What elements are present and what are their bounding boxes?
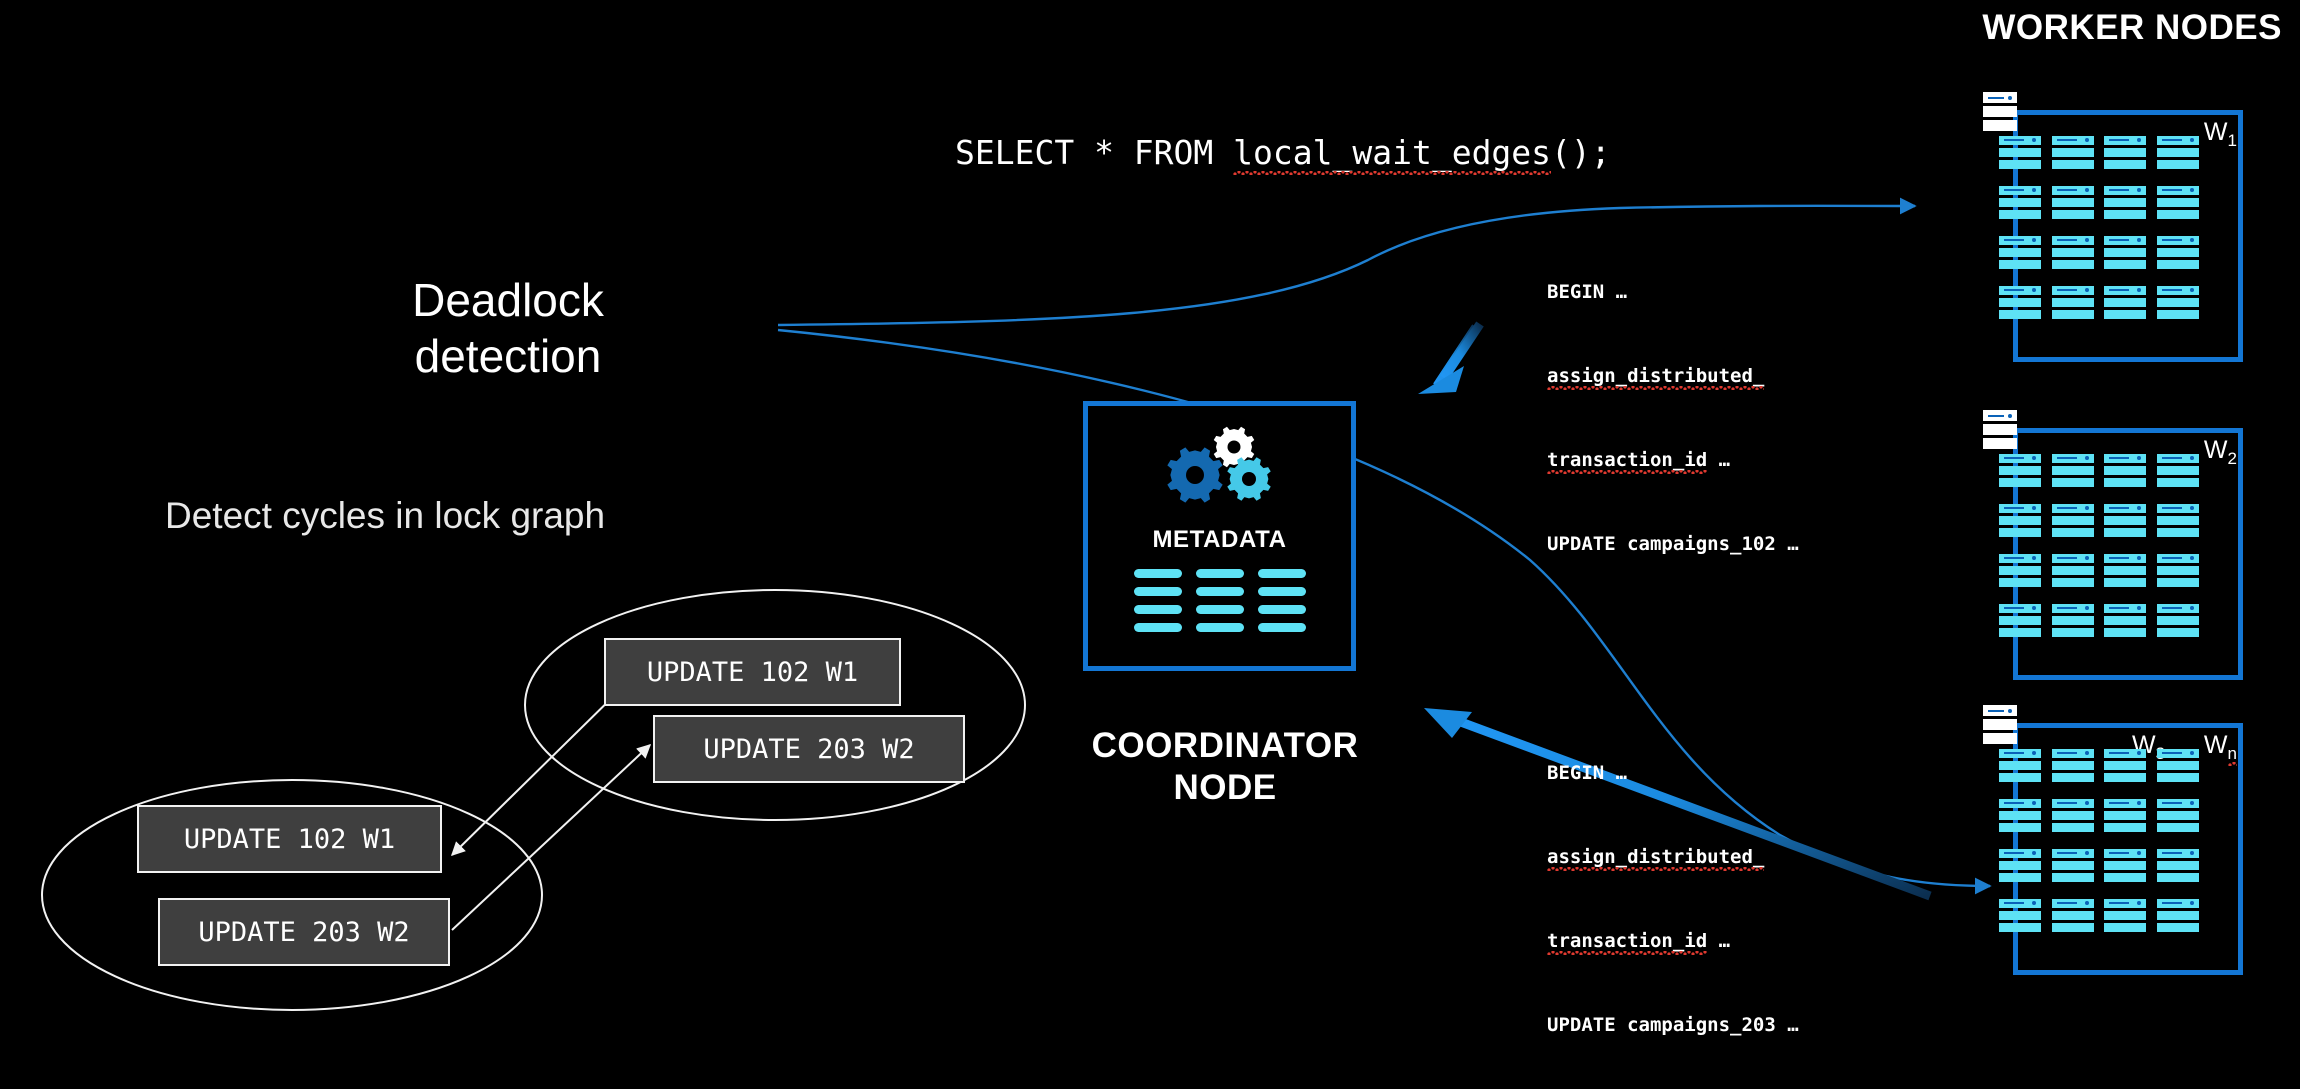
code-line-text: BEGIN …	[1547, 281, 1627, 303]
shard-icon	[2052, 454, 2094, 490]
worker-label-text: W	[2204, 118, 2228, 146]
shard-icon	[2104, 749, 2146, 785]
shard-icon	[2157, 236, 2199, 272]
lock-graph-box[interactable]: UPDATE 102 W1	[604, 638, 901, 706]
metadata-label: METADATA	[1083, 526, 1356, 554]
shard-icon	[2104, 899, 2146, 935]
shard-icon	[2052, 236, 2094, 272]
shard-icon	[2157, 554, 2199, 590]
shard-icon	[2052, 504, 2094, 540]
shard-icon	[2104, 799, 2146, 835]
shard-icon	[2157, 749, 2199, 785]
shard-icon	[2104, 604, 2146, 640]
shard-icon	[2052, 554, 2094, 590]
shard-icon	[2157, 849, 2199, 885]
metadata-row-bar	[1258, 605, 1306, 614]
worker-node-w2[interactable]: W2	[1983, 410, 2251, 690]
lock-graph-box[interactable]: UPDATE 102 W1	[137, 805, 442, 873]
code-line: transaction_id …	[1547, 921, 1799, 961]
sql-query-prefix: SELECT * FROM	[955, 133, 1233, 172]
transaction-block-102: BEGIN … assign_distributed_ transaction_…	[1547, 228, 1799, 608]
code-line-text: UPDATE campaigns_102 …	[1547, 533, 1799, 555]
shard-icon	[2157, 186, 2199, 222]
lock-graph-edge-2	[452, 745, 650, 930]
worker-node-w1[interactable]: W1	[1983, 92, 2251, 372]
sql-query-text: SELECT * FROM local_wait_edges();	[955, 133, 1611, 172]
shard-icon	[2157, 286, 2199, 322]
shard-icon	[1999, 504, 2041, 540]
shard-icon	[1999, 604, 2041, 640]
worker-node-label: W2	[2204, 436, 2237, 469]
server-rack-icon	[1983, 705, 2017, 747]
metadata-row-bar	[1258, 569, 1306, 578]
coordinator-node-heading: COORDINATOR NODE	[1060, 725, 1390, 809]
metadata-row-bar	[1134, 569, 1182, 578]
worker-nodes-heading: WORKER NODES	[1982, 8, 2282, 48]
shard-icon	[1999, 899, 2041, 935]
shard-icon	[1999, 454, 2041, 490]
lock-graph-caption: Detect cycles in lock graph	[165, 495, 605, 537]
code-line-text: transaction_id	[1547, 449, 1707, 471]
metadata-row-bar	[1196, 623, 1244, 632]
metadata-row-bar	[1134, 605, 1182, 614]
code-line-text: assign_distributed_	[1547, 846, 1764, 868]
shard-icon	[2157, 454, 2199, 490]
worker-node-label: W1	[2204, 118, 2237, 151]
shard-icon	[1999, 849, 2041, 885]
metadata-row-bar	[1258, 623, 1306, 632]
shard-icon	[1999, 236, 2041, 272]
code-line-suffix: …	[1707, 930, 1730, 952]
sql-query-suffix: ();	[1551, 133, 1611, 172]
shard-icon	[2052, 604, 2094, 640]
code-line-text: assign_distributed_	[1547, 365, 1764, 387]
worker-node-w3[interactable]: W3 … Wn	[1983, 705, 2251, 985]
shard-icon	[2157, 604, 2199, 640]
shard-icon	[2052, 749, 2094, 785]
shard-icon	[2104, 286, 2146, 322]
shard-icon	[2104, 849, 2146, 885]
shard-icon	[2157, 899, 2199, 935]
arrow-worker1-to-coordinator	[1418, 324, 1480, 394]
metadata-row-bar	[1196, 587, 1244, 596]
shard-icon	[1999, 136, 2041, 172]
worker-label-subscript-tail: n	[2228, 744, 2237, 763]
deadlock-detection-ellipse[interactable]: Deadlock detection	[238, 238, 778, 418]
shard-icon	[1999, 554, 2041, 590]
lock-graph-box[interactable]: UPDATE 203 W2	[158, 898, 450, 966]
shard-icon	[2104, 454, 2146, 490]
metadata-row-bar	[1134, 623, 1182, 632]
transaction-block-203: BEGIN … assign_distributed_ transaction_…	[1547, 709, 1799, 1089]
metadata-row-bar	[1196, 569, 1244, 578]
code-line: BEGIN …	[1547, 272, 1799, 312]
lock-graph-edge-1	[452, 680, 630, 855]
worker-label-subscript: 1	[2228, 131, 2237, 150]
shard-grid	[1999, 749, 2199, 935]
code-line: UPDATE campaigns_203 …	[1547, 1005, 1799, 1045]
shard-icon	[2104, 504, 2146, 540]
deadlock-detection-label: Deadlock detection	[412, 272, 604, 384]
shard-icon	[2052, 899, 2094, 935]
shard-icon	[2157, 136, 2199, 172]
shard-grid	[1999, 454, 2199, 640]
sql-query-function: local_wait_edges	[1233, 133, 1551, 172]
metadata-row-bar	[1134, 587, 1182, 596]
metadata-row-bar	[1196, 605, 1244, 614]
metadata-column	[1196, 569, 1244, 632]
server-rack-icon	[1983, 410, 2017, 452]
code-line-suffix: …	[1707, 449, 1730, 471]
shard-icon	[2052, 799, 2094, 835]
code-line: transaction_id …	[1547, 440, 1799, 480]
shard-icon	[1999, 286, 2041, 322]
metadata-column	[1134, 569, 1182, 632]
shard-icon	[2104, 236, 2146, 272]
code-line-text: transaction_id	[1547, 930, 1707, 952]
shard-icon	[2104, 554, 2146, 590]
gears-icon	[1145, 423, 1295, 528]
lock-graph-box[interactable]: UPDATE 203 W2	[653, 715, 965, 783]
code-line: UPDATE campaigns_102 …	[1547, 524, 1799, 564]
worker-label-subscript: 2	[2228, 449, 2237, 468]
code-line: assign_distributed_	[1547, 356, 1799, 396]
metadata-column	[1258, 569, 1306, 632]
server-rack-icon	[1983, 92, 2017, 134]
shard-icon	[2052, 286, 2094, 322]
shard-icon	[2052, 849, 2094, 885]
shard-icon	[2104, 136, 2146, 172]
code-line-text: UPDATE campaigns_203 …	[1547, 1014, 1799, 1036]
code-line: assign_distributed_	[1547, 837, 1799, 877]
worker-label-text: W	[2204, 436, 2228, 464]
shard-icon	[2052, 186, 2094, 222]
shard-icon	[2104, 186, 2146, 222]
shard-icon	[1999, 799, 2041, 835]
coordinator-node[interactable]: METADATA	[1083, 401, 1356, 671]
diagram-canvas: WORKER NODES COORDINATOR NODE Deadlock d…	[0, 0, 2300, 1072]
gear-dark-blue	[1167, 447, 1222, 502]
shard-grid	[1999, 136, 2199, 322]
metadata-row-bar	[1258, 587, 1306, 596]
shard-icon	[1999, 186, 2041, 222]
metadata-rows	[1134, 569, 1306, 632]
shard-icon	[1999, 749, 2041, 785]
shard-icon	[2052, 136, 2094, 172]
code-line-text: BEGIN …	[1547, 762, 1627, 784]
code-line: BEGIN …	[1547, 753, 1799, 793]
shard-icon	[2157, 504, 2199, 540]
shard-icon	[2157, 799, 2199, 835]
